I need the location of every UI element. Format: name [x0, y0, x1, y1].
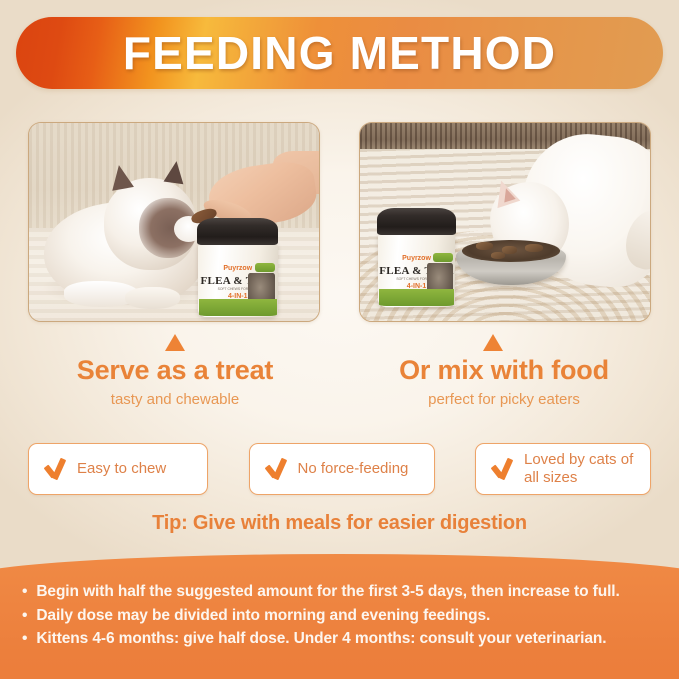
benefit-label: No force-feeding — [298, 460, 409, 478]
notes-list: • Begin with half the suggested amount f… — [22, 580, 670, 651]
cat-right-ear-icon — [164, 159, 187, 184]
product-jar-left: Puyrzow FLEA & TICK SOFT CHEWS FOR CATS … — [197, 218, 278, 317]
photo-panels: Puyrzow FLEA & TICK SOFT CHEWS FOR CATS … — [28, 122, 651, 322]
page-title: FEEDING METHOD — [123, 30, 556, 76]
kibble-piece — [491, 252, 506, 259]
tip-text: Tip: Give with meals for easier digestio… — [0, 512, 679, 535]
method-subtitle: tasty and chewable — [10, 392, 340, 409]
jar-corner-tag — [433, 253, 453, 262]
kibble-piece — [476, 242, 493, 250]
photo-scene-left: Puyrzow FLEA & TICK SOFT CHEWS FOR CATS … — [29, 123, 319, 321]
note-text: Begin with half the suggested amount for… — [36, 580, 619, 604]
note-item: • Daily dose may be divided into morning… — [22, 604, 670, 628]
bullet-icon: • — [22, 627, 27, 651]
method-title: Or mix with food — [339, 356, 669, 385]
jar-body: Puyrzow FLEA & TICK SOFT CHEWS FOR CATS … — [198, 242, 278, 317]
product-jar-right: Puyrzow FLEA & TICK SOFT CHEWS FOR CATS … — [377, 208, 455, 307]
benefit-pills: Easy to chew No force-feeding Loved by c… — [28, 443, 651, 495]
check-icon — [491, 457, 515, 481]
bullet-icon: • — [22, 580, 27, 604]
jar-green-band — [379, 289, 454, 306]
jar-body: Puyrzow FLEA & TICK SOFT CHEWS FOR CATS … — [378, 232, 455, 307]
photo-scene-right: Puyrzow FLEA & TICK SOFT CHEWS FOR CATS … — [360, 123, 650, 321]
triangle-up-icon-left — [165, 334, 185, 351]
benefit-pill-loved-by-cats[interactable]: Loved by cats of all sizes — [475, 443, 651, 495]
jar-green-band — [199, 299, 277, 316]
note-text: Kittens 4-6 months: give half dose. Unde… — [36, 627, 606, 651]
jar-corner-tag — [255, 263, 276, 272]
cat-second-paw — [125, 287, 180, 309]
triangle-up-icon-right — [483, 334, 503, 351]
benefit-label: Easy to chew — [77, 460, 166, 478]
pointer-arrows — [0, 332, 679, 354]
jar-lid — [377, 208, 455, 235]
benefit-pill-no-force-feeding[interactable]: No force-feeding — [249, 443, 435, 495]
header-banner: FEEDING METHOD — [16, 17, 663, 89]
method-subtitle: perfect for picky eaters — [339, 392, 669, 409]
serve-as-treat-photo: Puyrzow FLEA & TICK SOFT CHEWS FOR CATS … — [28, 122, 320, 322]
note-text: Daily dose may be divided into morning a… — [36, 604, 490, 628]
check-icon — [44, 457, 68, 481]
feeding-notes-section: • Begin with half the suggested amount f… — [0, 554, 679, 679]
method-title: Serve as a treat — [10, 356, 340, 385]
kibble-piece — [525, 244, 542, 252]
note-item: • Begin with half the suggested amount f… — [22, 580, 670, 604]
method-right: Or mix with food perfect for picky eater… — [339, 356, 669, 409]
cat-left-ear-icon — [108, 163, 134, 190]
mix-with-food-photo: Puyrzow FLEA & TICK SOFT CHEWS FOR CATS … — [359, 122, 651, 322]
check-icon — [265, 457, 289, 481]
note-item: • Kittens 4-6 months: give half dose. Un… — [22, 627, 670, 651]
method-headings: Serve as a treat tasty and chewable Or m… — [0, 356, 679, 418]
header-banner-pill: FEEDING METHOD — [16, 17, 663, 89]
bullet-icon: • — [22, 604, 27, 628]
benefit-pill-easy-to-chew[interactable]: Easy to chew — [28, 443, 208, 495]
kibble-piece — [502, 246, 517, 254]
benefit-label: Loved by cats of all sizes — [524, 451, 635, 486]
jar-lid — [197, 218, 278, 245]
method-left: Serve as a treat tasty and chewable — [10, 356, 340, 409]
